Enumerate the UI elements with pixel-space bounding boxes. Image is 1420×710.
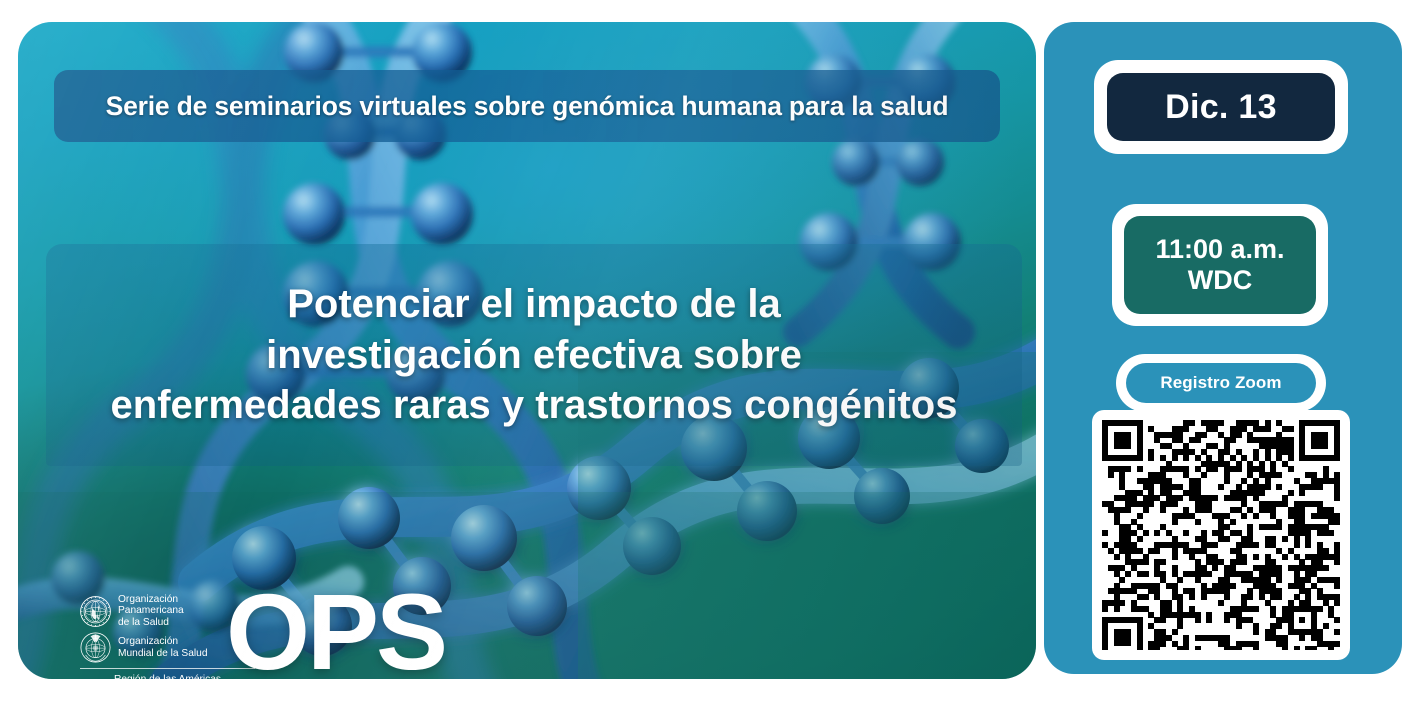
info-sidebar: Dic. 13 11:00 a.m. WDC Registro Zoom bbox=[1044, 22, 1402, 674]
paho-line-2: Panamericana bbox=[118, 605, 184, 616]
who-line-2: Mundial de la Salud bbox=[118, 648, 207, 659]
webinar-promo-poster: Serie de seminarios virtuales sobre genó… bbox=[0, 0, 1420, 710]
qr-code-card[interactable] bbox=[1092, 410, 1350, 660]
ops-wordmark: OPS bbox=[226, 578, 445, 679]
title-line-1: Potenciar el impacto de la bbox=[287, 281, 781, 327]
qr-code-icon[interactable] bbox=[1102, 420, 1340, 650]
who-line-1: Organización bbox=[118, 636, 207, 647]
time-badge: 11:00 a.m. WDC bbox=[1124, 216, 1316, 314]
paho-logo-text: Organización Panamericana de la Salud bbox=[118, 594, 184, 628]
poster-title: Potenciar el impacto de la investigación… bbox=[46, 244, 1022, 466]
date-badge: Dic. 13 bbox=[1107, 73, 1335, 141]
paho-line-3: de la Salud bbox=[118, 617, 184, 628]
main-artwork-panel: Serie de seminarios virtuales sobre genó… bbox=[18, 22, 1036, 679]
who-logo-text: Organización Mundial de la Salud bbox=[118, 636, 207, 659]
title-line-3: enfermedades raras y trastornos congénit… bbox=[111, 382, 958, 428]
register-button-frame[interactable]: Registro Zoom bbox=[1116, 354, 1326, 412]
time-badge-frame: 11:00 a.m. WDC bbox=[1112, 204, 1328, 326]
date-badge-frame: Dic. 13 bbox=[1094, 60, 1348, 154]
time-value: 11:00 a.m. bbox=[1155, 234, 1284, 265]
timezone-label: WDC bbox=[1188, 265, 1252, 296]
who-globe-emblem-icon bbox=[80, 632, 111, 663]
series-banner-text: Serie de seminarios virtuales sobre genó… bbox=[106, 91, 949, 122]
series-banner: Serie de seminarios virtuales sobre genó… bbox=[54, 70, 1000, 142]
paho-line-1: Organización bbox=[118, 594, 184, 605]
paho-globe-emblem-icon bbox=[80, 596, 111, 627]
title-line-2: investigación efectiva sobre bbox=[266, 332, 802, 378]
register-zoom-button[interactable]: Registro Zoom bbox=[1126, 363, 1316, 403]
